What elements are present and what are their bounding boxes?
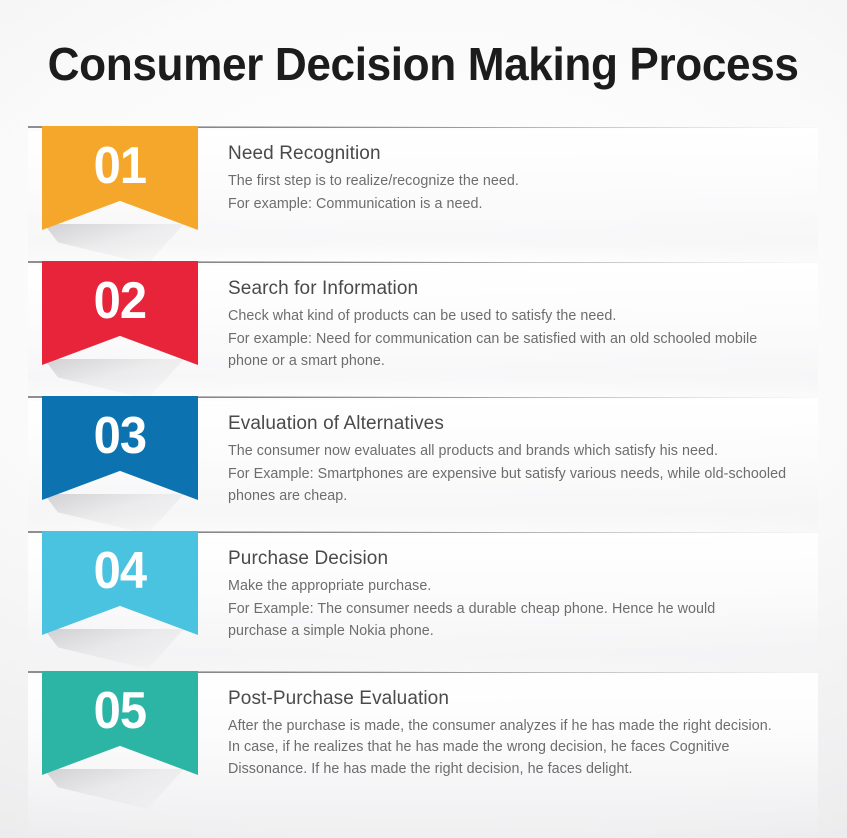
step-description: Check what kind of products can be used … [228,306,773,373]
step-description: The consumer now evaluates all products … [228,441,788,508]
step-description-line: For Example: Smartphones are expensive b… [228,464,788,507]
step-description: Make the appropriate purchase.For Exampl… [228,576,773,643]
step-description-line: After the purchase is made, the consumer… [228,716,773,781]
page-title: Consumer Decision Making Process [48,33,799,87]
ribbon-shadow [44,629,184,669]
step-heading: Post-Purchase Evaluation [228,687,773,711]
step-content: Search for InformationCheck what kind of… [228,277,773,373]
step-description-line: The first step is to realize/recognize t… [228,171,798,193]
step-heading: Evaluation of Alternatives [228,412,788,436]
step-heading: Need Recognition [228,142,798,166]
step-heading: Purchase Decision [228,547,773,571]
step-number-label: 02 [94,261,146,327]
ribbon-shape: 01 [42,126,198,230]
step-number-label: 03 [94,396,146,462]
ribbon-shape: 04 [42,531,198,635]
step-number-ribbon[interactable]: 03 [42,396,198,500]
ribbon-shape: 05 [42,671,198,775]
steps-list: 01Need RecognitionThe first step is to r… [0,120,847,828]
step-number-label: 05 [94,671,146,737]
step-description-line: The consumer now evaluates all products … [228,441,788,463]
step-number-ribbon[interactable]: 01 [42,126,198,230]
step-description-line: For example: Need for communication can … [228,329,773,372]
step-row[interactable]: 04Purchase DecisionMake the appropriate … [0,525,847,665]
step-number-ribbon[interactable]: 05 [42,671,198,775]
step-description-line: Make the appropriate purchase. [228,576,773,598]
step-description-line: For Example: The consumer needs a durabl… [228,599,773,642]
step-description: The first step is to realize/recognize t… [228,171,798,216]
step-description: After the purchase is made, the consumer… [228,716,773,781]
step-description-line: Check what kind of products can be used … [228,306,773,328]
step-row[interactable]: 03Evaluation of AlternativesThe consumer… [0,390,847,525]
step-content: Evaluation of AlternativesThe consumer n… [228,412,788,508]
step-description-line: For example: Communication is a need. [228,194,798,216]
step-content: Need RecognitionThe first step is to rea… [228,142,798,216]
title-block: Consumer Decision Making Process [0,0,847,120]
infographic-canvas: Consumer Decision Making Process 01Need … [0,0,847,838]
ribbon-shadow [44,769,184,809]
step-row[interactable]: 01Need RecognitionThe first step is to r… [0,120,847,255]
step-number-ribbon[interactable]: 04 [42,531,198,635]
step-number-label: 04 [94,531,146,597]
step-content: Post-Purchase EvaluationAfter the purcha… [228,687,773,781]
step-heading: Search for Information [228,277,773,301]
step-row[interactable]: 05Post-Purchase EvaluationAfter the purc… [0,665,847,828]
step-row[interactable]: 02Search for InformationCheck what kind … [0,255,847,390]
ribbon-shape: 03 [42,396,198,500]
step-content: Purchase DecisionMake the appropriate pu… [228,547,773,643]
ribbon-shape: 02 [42,261,198,365]
step-number-ribbon[interactable]: 02 [42,261,198,365]
step-number-label: 01 [94,126,146,192]
